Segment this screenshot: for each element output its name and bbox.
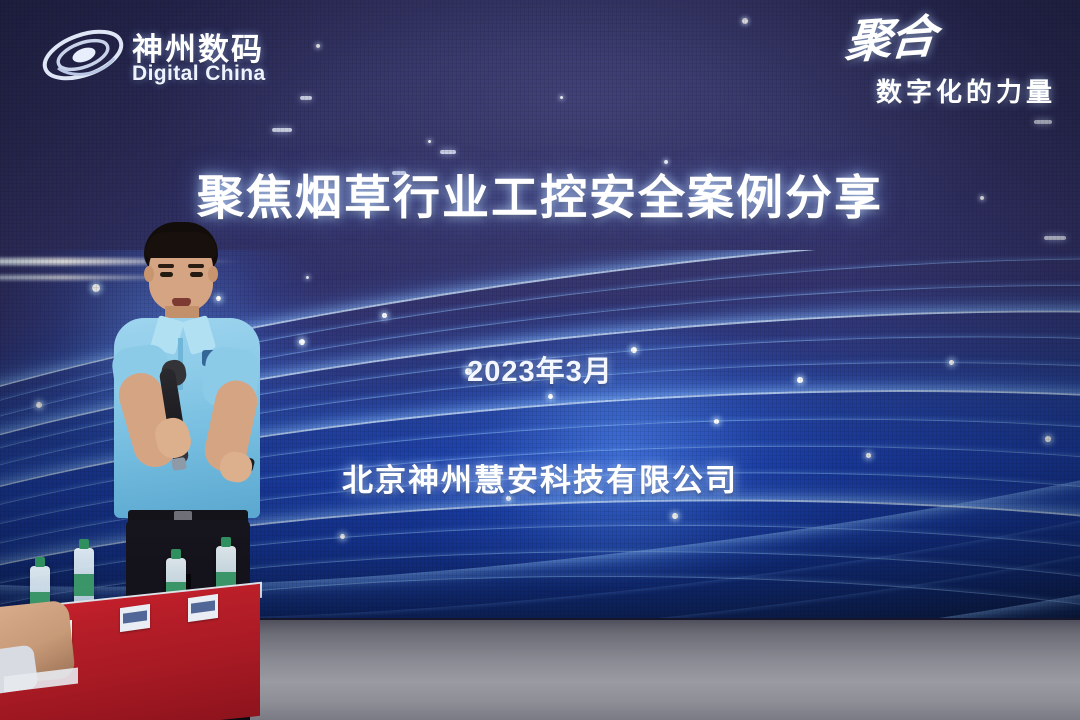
- microphone-tip: [171, 457, 187, 471]
- event-subtitle: 数字化的力量: [876, 72, 1056, 109]
- speaker-brow-right: [188, 264, 204, 268]
- name-card-text: [123, 610, 147, 623]
- slide-title: 聚焦烟草行业工控安全案例分享: [0, 174, 1080, 221]
- conference-photo: 神州数码 Digital China 聚合 数字化的力量 聚焦烟草行业工控安全案…: [0, 0, 1080, 720]
- name-card: [188, 594, 218, 622]
- name-card: [120, 604, 150, 632]
- speaker-ear-left: [144, 266, 154, 282]
- brand-logo: 神州数码 Digital China: [40, 20, 280, 92]
- digital-china-spiral-icon: [40, 24, 126, 86]
- speaker-eye-right: [190, 272, 203, 277]
- speaker-ear-right: [208, 266, 218, 282]
- event-mark: 聚合 数字化的力量: [806, 14, 1056, 110]
- brand-name-en: Digital China: [132, 62, 266, 86]
- event-calligraphy: 聚合: [844, 13, 937, 65]
- speaker-brow-left: [158, 264, 174, 268]
- speaker-eye-left: [160, 272, 173, 277]
- speaker: [92, 222, 282, 622]
- bottle-label: [74, 574, 94, 596]
- speaker-hair-front: [145, 232, 217, 258]
- name-card-text: [191, 600, 215, 613]
